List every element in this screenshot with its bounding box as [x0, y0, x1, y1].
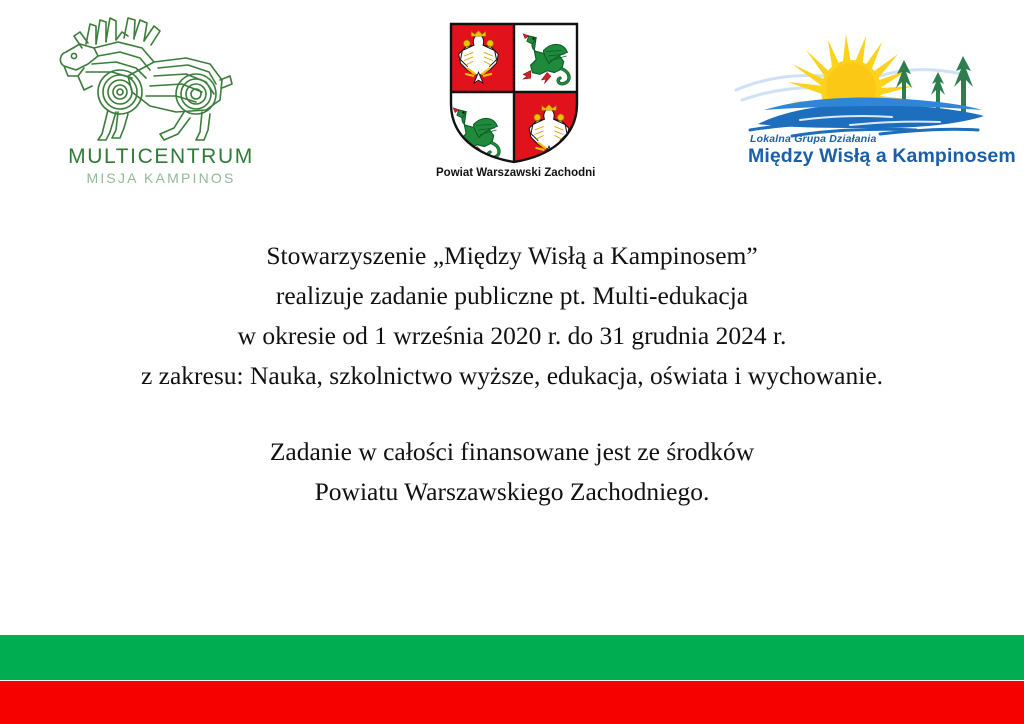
elk-line-art-icon: [46, 14, 276, 144]
paragraph-gap: [0, 396, 1024, 432]
logo-multicentrum: MULTICENTRUM MISJA KAMPINOS: [46, 14, 276, 194]
lgd-subtitle: Lokalna Grupa Działania: [750, 133, 992, 145]
logo-powiat-warszawski-zachodni: Powiat Warszawski Zachodni: [436, 18, 592, 193]
logo-band: MULTICENTRUM MISJA KAMPINOS: [0, 0, 1024, 200]
paragraph1-line-1: Stowarzyszenie „Między Wisłą a Kampinose…: [0, 236, 1024, 276]
poster-page: MULTICENTRUM MISJA KAMPINOS: [0, 0, 1024, 724]
poster-body-text: Stowarzyszenie „Między Wisłą a Kampinose…: [0, 236, 1024, 512]
lgd-title: Między Wisłą a Kampinosem: [748, 145, 992, 168]
footer-bar-green: [0, 635, 1024, 680]
powiat-caption: Powiat Warszawski Zachodni: [436, 167, 592, 179]
paragraph1-line-2: realizuje zadanie publiczne pt. Multi-ed…: [0, 276, 1024, 316]
coat-of-arms-shield-icon: [443, 18, 585, 166]
footer-bar-red: [0, 681, 1024, 724]
logo-lgd-miedzy-wisla-a-kampinosem: Lokalna Grupa Działania Między Wisłą a K…: [730, 24, 992, 184]
paragraph1-line-4: z zakresu: Nauka, szkolnictwo wyższe, ed…: [0, 356, 1024, 396]
sun-river-trees-icon: [730, 24, 992, 139]
paragraph1-line-3: w okresie od 1 września 2020 r. do 31 gr…: [0, 316, 1024, 356]
multicentrum-subtitle: MISJA KAMPINOS: [46, 170, 276, 187]
paragraph2-line-1: Zadanie w całości finansowane jest ze śr…: [0, 432, 1024, 472]
paragraph2-line-2: Powiatu Warszawskiego Zachodniego.: [0, 472, 1024, 512]
multicentrum-name: MULTICENTRUM: [46, 146, 276, 168]
